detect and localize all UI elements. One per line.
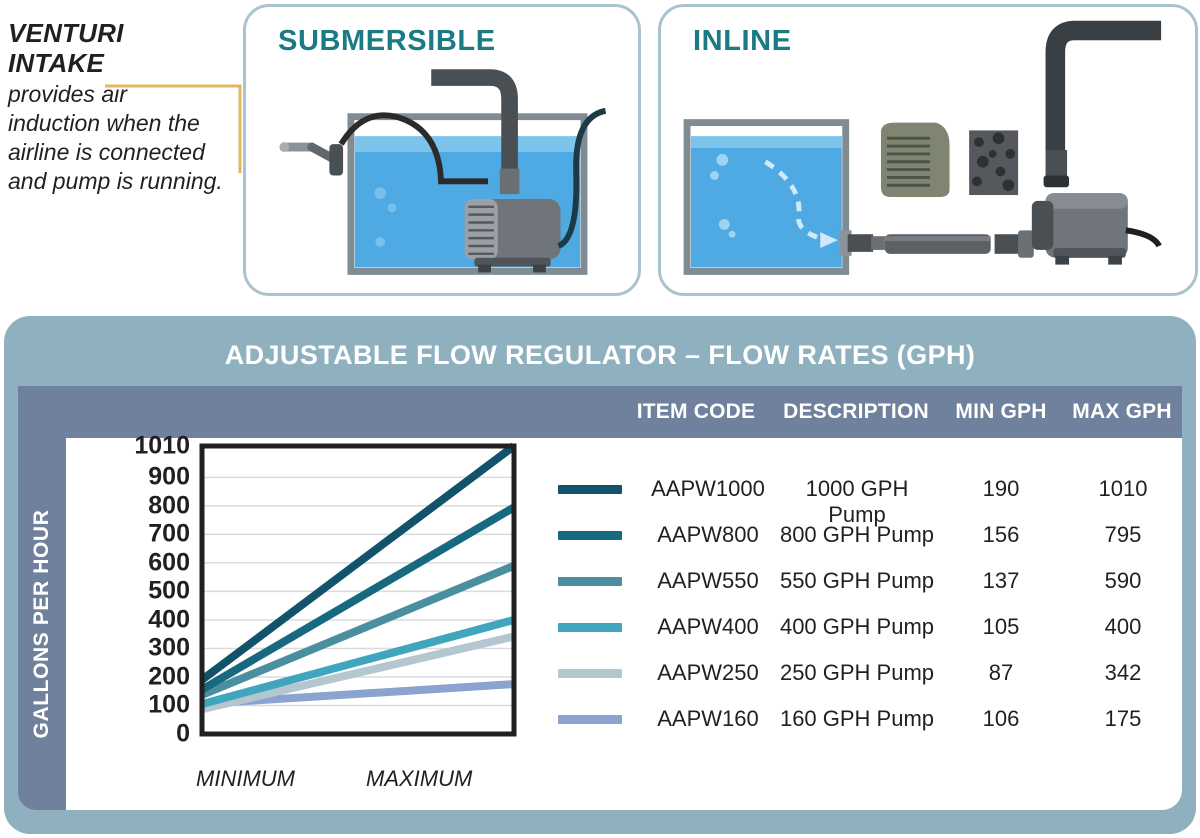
y-axis-tick: 1010 [134, 434, 190, 459]
y-axis-tick: 800 [148, 493, 190, 518]
y-axis-tick: 100 [148, 693, 190, 718]
cell-min-gph: 106 [942, 706, 1060, 732]
submersible-illustration [246, 7, 638, 293]
callout-heading-line1: VENTURI [8, 18, 223, 48]
cell-description: 250 GPH Pump [774, 660, 940, 686]
cell-min-gph: 156 [942, 522, 1060, 548]
cell-item-code: AAPW250 [634, 660, 782, 686]
cell-description: 550 GPH Pump [774, 568, 940, 594]
column-header-description: DESCRIPTION [772, 400, 940, 424]
y-axis-tick: 0 [176, 722, 190, 747]
cell-item-code: AAPW160 [634, 706, 782, 732]
table-row: AAPW10001000 GPH Pump1901010 [552, 466, 1192, 512]
cell-max-gph: 795 [1064, 522, 1182, 548]
y-axis-title-band: GALLONS PER HOUR [18, 438, 66, 810]
cell-max-gph: 342 [1064, 660, 1182, 686]
y-axis-tick: 500 [148, 579, 190, 604]
y-axis-tick-labels: 10109008007006005004003002001000 [84, 438, 190, 810]
flow-rates-panel: ADJUSTABLE FLOW REGULATOR – FLOW RATES (… [4, 316, 1196, 834]
table-row: AAPW400400 GPH Pump105400 [552, 604, 1192, 650]
y-axis-tick: 300 [148, 636, 190, 661]
cell-min-gph: 105 [942, 614, 1060, 640]
line-chart: 10109008007006005004003002001000 MINIMUM… [66, 438, 552, 810]
cell-max-gph: 175 [1064, 706, 1182, 732]
legend-swatch [558, 485, 622, 494]
cell-description: 800 GPH Pump [774, 522, 940, 548]
table-row: AAPW160160 GPH Pump106175 [552, 696, 1192, 742]
cell-item-code: AAPW400 [634, 614, 782, 640]
legend-swatch [558, 669, 622, 678]
column-header-max-gph: MAX GPH [1062, 400, 1182, 424]
cell-max-gph: 400 [1064, 614, 1182, 640]
x-axis-tick-maximum: MAXIMUM [366, 766, 472, 792]
x-axis-tick-minimum: MINIMUM [196, 766, 295, 792]
legend-swatch [558, 531, 622, 540]
y-axis-tick: 900 [148, 465, 190, 490]
legend-swatch [558, 715, 622, 724]
flow-rate-table: AAPW10001000 GPH Pump1901010AAPW800800 G… [552, 466, 1192, 742]
cell-item-code: AAPW800 [634, 522, 782, 548]
panel-submersible: SUBMERSIBLE [243, 4, 641, 296]
column-header-item-code: ITEM CODE [622, 400, 770, 424]
legend-swatch [558, 577, 622, 586]
y-axis-title: GALLONS PER HOUR [30, 510, 54, 739]
cell-item-code: AAPW1000 [634, 476, 782, 502]
cell-min-gph: 87 [942, 660, 1060, 686]
table-row: AAPW550550 GPH Pump137590 [552, 558, 1192, 604]
y-axis-tick: 400 [148, 607, 190, 632]
column-header-min-gph: MIN GPH [942, 400, 1060, 424]
inline-illustration [661, 7, 1195, 293]
cell-max-gph: 590 [1064, 568, 1182, 594]
table-row: AAPW250250 GPH Pump87342 [552, 650, 1192, 696]
plot-area [194, 438, 522, 756]
diagram-row: VENTURI INTAKE provides air induction wh… [0, 0, 1200, 300]
cell-item-code: AAPW550 [634, 568, 782, 594]
cell-description: 400 GPH Pump [774, 614, 940, 640]
y-axis-tick: 600 [148, 550, 190, 575]
cell-description: 160 GPH Pump [774, 706, 940, 732]
panel-inline: INLINE [658, 4, 1198, 296]
table-row: AAPW800800 GPH Pump156795 [552, 512, 1192, 558]
y-axis-tick: 700 [148, 522, 190, 547]
cell-max-gph: 1010 [1064, 476, 1182, 502]
y-axis-tick: 200 [148, 664, 190, 689]
legend-swatch [558, 623, 622, 632]
chart-panel-title: ADJUSTABLE FLOW REGULATOR – FLOW RATES (… [4, 340, 1196, 371]
cell-min-gph: 137 [942, 568, 1060, 594]
cell-min-gph: 190 [942, 476, 1060, 502]
